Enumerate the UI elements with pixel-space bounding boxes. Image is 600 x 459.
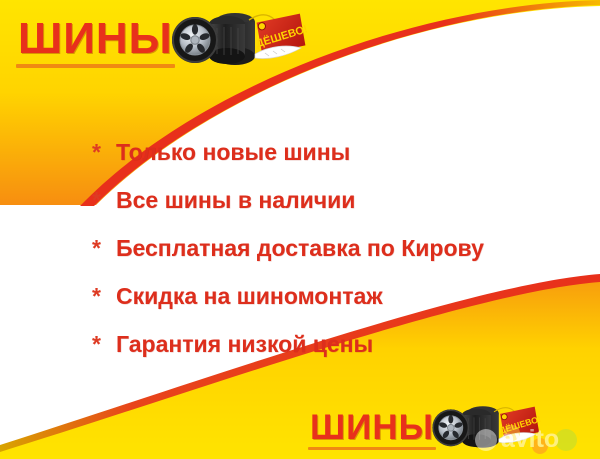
list-item-label: Скидка на шиномонтаж	[116, 283, 383, 310]
list-item-label: Бесплатная доставка по Кирову	[116, 235, 484, 262]
logo-bottom-word: ШИНЫ	[310, 410, 434, 445]
bullet-star-icon: *	[92, 333, 116, 356]
tire-stack-with-price-tag-icon: ДЁШЕВО!	[169, 8, 309, 70]
list-item-label: Только новые шины	[116, 139, 350, 166]
advertisement-poster: ШИНЫ	[0, 0, 600, 459]
bullet-star-icon: *	[92, 237, 116, 260]
bullet-star-icon: *	[92, 141, 116, 164]
tire-stack-with-price-tag-icon: ДЁШЕВО!	[430, 402, 542, 452]
benefits-list: * Только новые шины * Все шины в наличии…	[92, 139, 572, 379]
list-item-label: Все шины в наличии	[116, 187, 355, 214]
list-item: * Гарантия низкой цены	[92, 331, 572, 379]
logo-top-word: ШИНЫ	[18, 17, 173, 61]
logo-bottom: ШИНЫ	[310, 402, 542, 452]
list-item-label: Гарантия низкой цены	[116, 331, 373, 358]
list-item: * Все шины в наличии	[92, 187, 572, 235]
list-item: * Скидка на шиномонтаж	[92, 283, 572, 331]
bullet-star-icon: *	[92, 189, 116, 212]
logo-top: ШИНЫ	[18, 8, 309, 70]
list-item: * Бесплатная доставка по Кирову	[92, 235, 572, 283]
bullet-star-icon: *	[92, 285, 116, 308]
list-item: * Только новые шины	[92, 139, 572, 187]
